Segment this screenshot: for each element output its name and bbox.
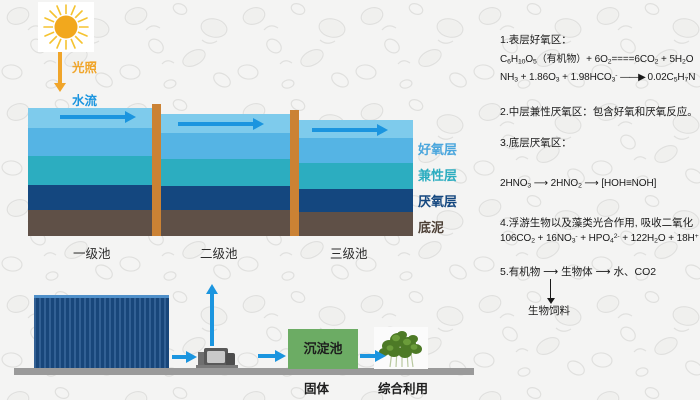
solid-output-label: 固体 xyxy=(304,378,329,397)
layer-facultative xyxy=(157,159,295,186)
sunlight-label: 光照 xyxy=(72,57,97,76)
ground-line xyxy=(14,368,474,375)
note-1-equation-2: NH3 + 1.86O3 + 1.98HCO3- ——▶ 0.02C5H7N xyxy=(500,72,700,85)
pond-2 xyxy=(157,114,295,236)
recirculation-arrow-icon xyxy=(205,284,219,346)
pond-label-2: 二级池 xyxy=(200,243,238,262)
note-4-heading: 4.浮游生物以及藻类光合作用, 吸收二氧化 xyxy=(500,217,700,230)
layer-sludge xyxy=(157,210,295,236)
water-flow-label: 水流 xyxy=(72,90,97,109)
note-2-text: 2.中层兼性厌氧区：包含好氧和厌氧反应。 xyxy=(500,106,700,119)
layer-label-facultative: 兼性层 xyxy=(418,165,457,184)
pump-unit xyxy=(196,346,238,369)
pond-3 xyxy=(295,120,413,236)
sun-icon xyxy=(38,2,94,52)
water-tank xyxy=(34,295,169,368)
settling-tank-label: 沉淀池 xyxy=(288,329,358,369)
flow-arrow-settler-to-plant-icon xyxy=(360,349,386,363)
note-1-equation-1: C6H10O5（有机物）+ 6O2====6CO2 + 5H2O xyxy=(500,54,700,67)
note-1-heading: 1.表层好氧区： xyxy=(500,34,700,47)
layer-sludge xyxy=(295,212,413,236)
layer-label-anaerobic: 厌氧层 xyxy=(418,191,457,210)
sunlight-arrow-icon xyxy=(54,52,66,92)
water-flow-arrow-1-icon xyxy=(60,110,136,124)
settling-tank: 沉淀池 xyxy=(288,329,358,369)
note-5-row-2: 生物饲料 xyxy=(500,305,700,318)
layer-aerobic-mid xyxy=(28,128,157,156)
water-flow-arrow-3-icon xyxy=(312,123,388,137)
layer-facultative xyxy=(28,156,157,185)
pond-label-1: 一级池 xyxy=(73,243,111,262)
note-5-down-arrow-icon xyxy=(546,279,556,305)
comprehensive-use-label: 综合利用 xyxy=(378,378,428,397)
note-5-row-1: 5.有机物 ⟶ 生物体 ⟶ 水、CO2 xyxy=(500,266,700,279)
reaction-notes-panel: 1.表层好氧区： C6H10O5（有机物）+ 6O2====6CO2 + 5H2… xyxy=(500,34,700,394)
layer-sludge xyxy=(28,210,157,236)
note-3-heading: 3.底层厌氧区： xyxy=(500,137,700,150)
note-4-equation: 106CO2 + 16NO3- + HPO42- + 122H2O + 18H+ xyxy=(500,233,700,246)
water-flow-arrow-2-icon xyxy=(178,117,264,131)
tank-ribs xyxy=(34,298,169,368)
layer-label-aerobic: 好氧层 xyxy=(418,139,457,158)
layer-anaerobic xyxy=(157,186,295,210)
pond-divider-post-2 xyxy=(290,110,299,236)
flow-arrow-pump-to-settler-icon xyxy=(258,349,286,363)
note-3-equation: 2HNO3 ⟶ 2HNO2 ⟶ [HOH≡NOH] xyxy=(500,178,700,191)
slide-canvas: 光照 xyxy=(0,0,700,400)
pond-label-3: 三级池 xyxy=(330,243,368,262)
flow-arrow-tank-to-pump-icon xyxy=(172,350,196,364)
layer-label-sludge: 底泥 xyxy=(418,217,444,236)
layer-aerobic-mid xyxy=(157,133,295,159)
layer-anaerobic xyxy=(295,189,413,212)
note-5-block: 5.有机物 ⟶ 生物体 ⟶ 水、CO2 生物饲料 xyxy=(500,266,700,318)
pond-divider-post-1 xyxy=(152,104,161,236)
layer-facultative xyxy=(295,163,413,189)
layer-anaerobic xyxy=(28,185,157,210)
layer-aerobic-mid xyxy=(295,138,413,163)
pond-1 xyxy=(28,108,157,236)
